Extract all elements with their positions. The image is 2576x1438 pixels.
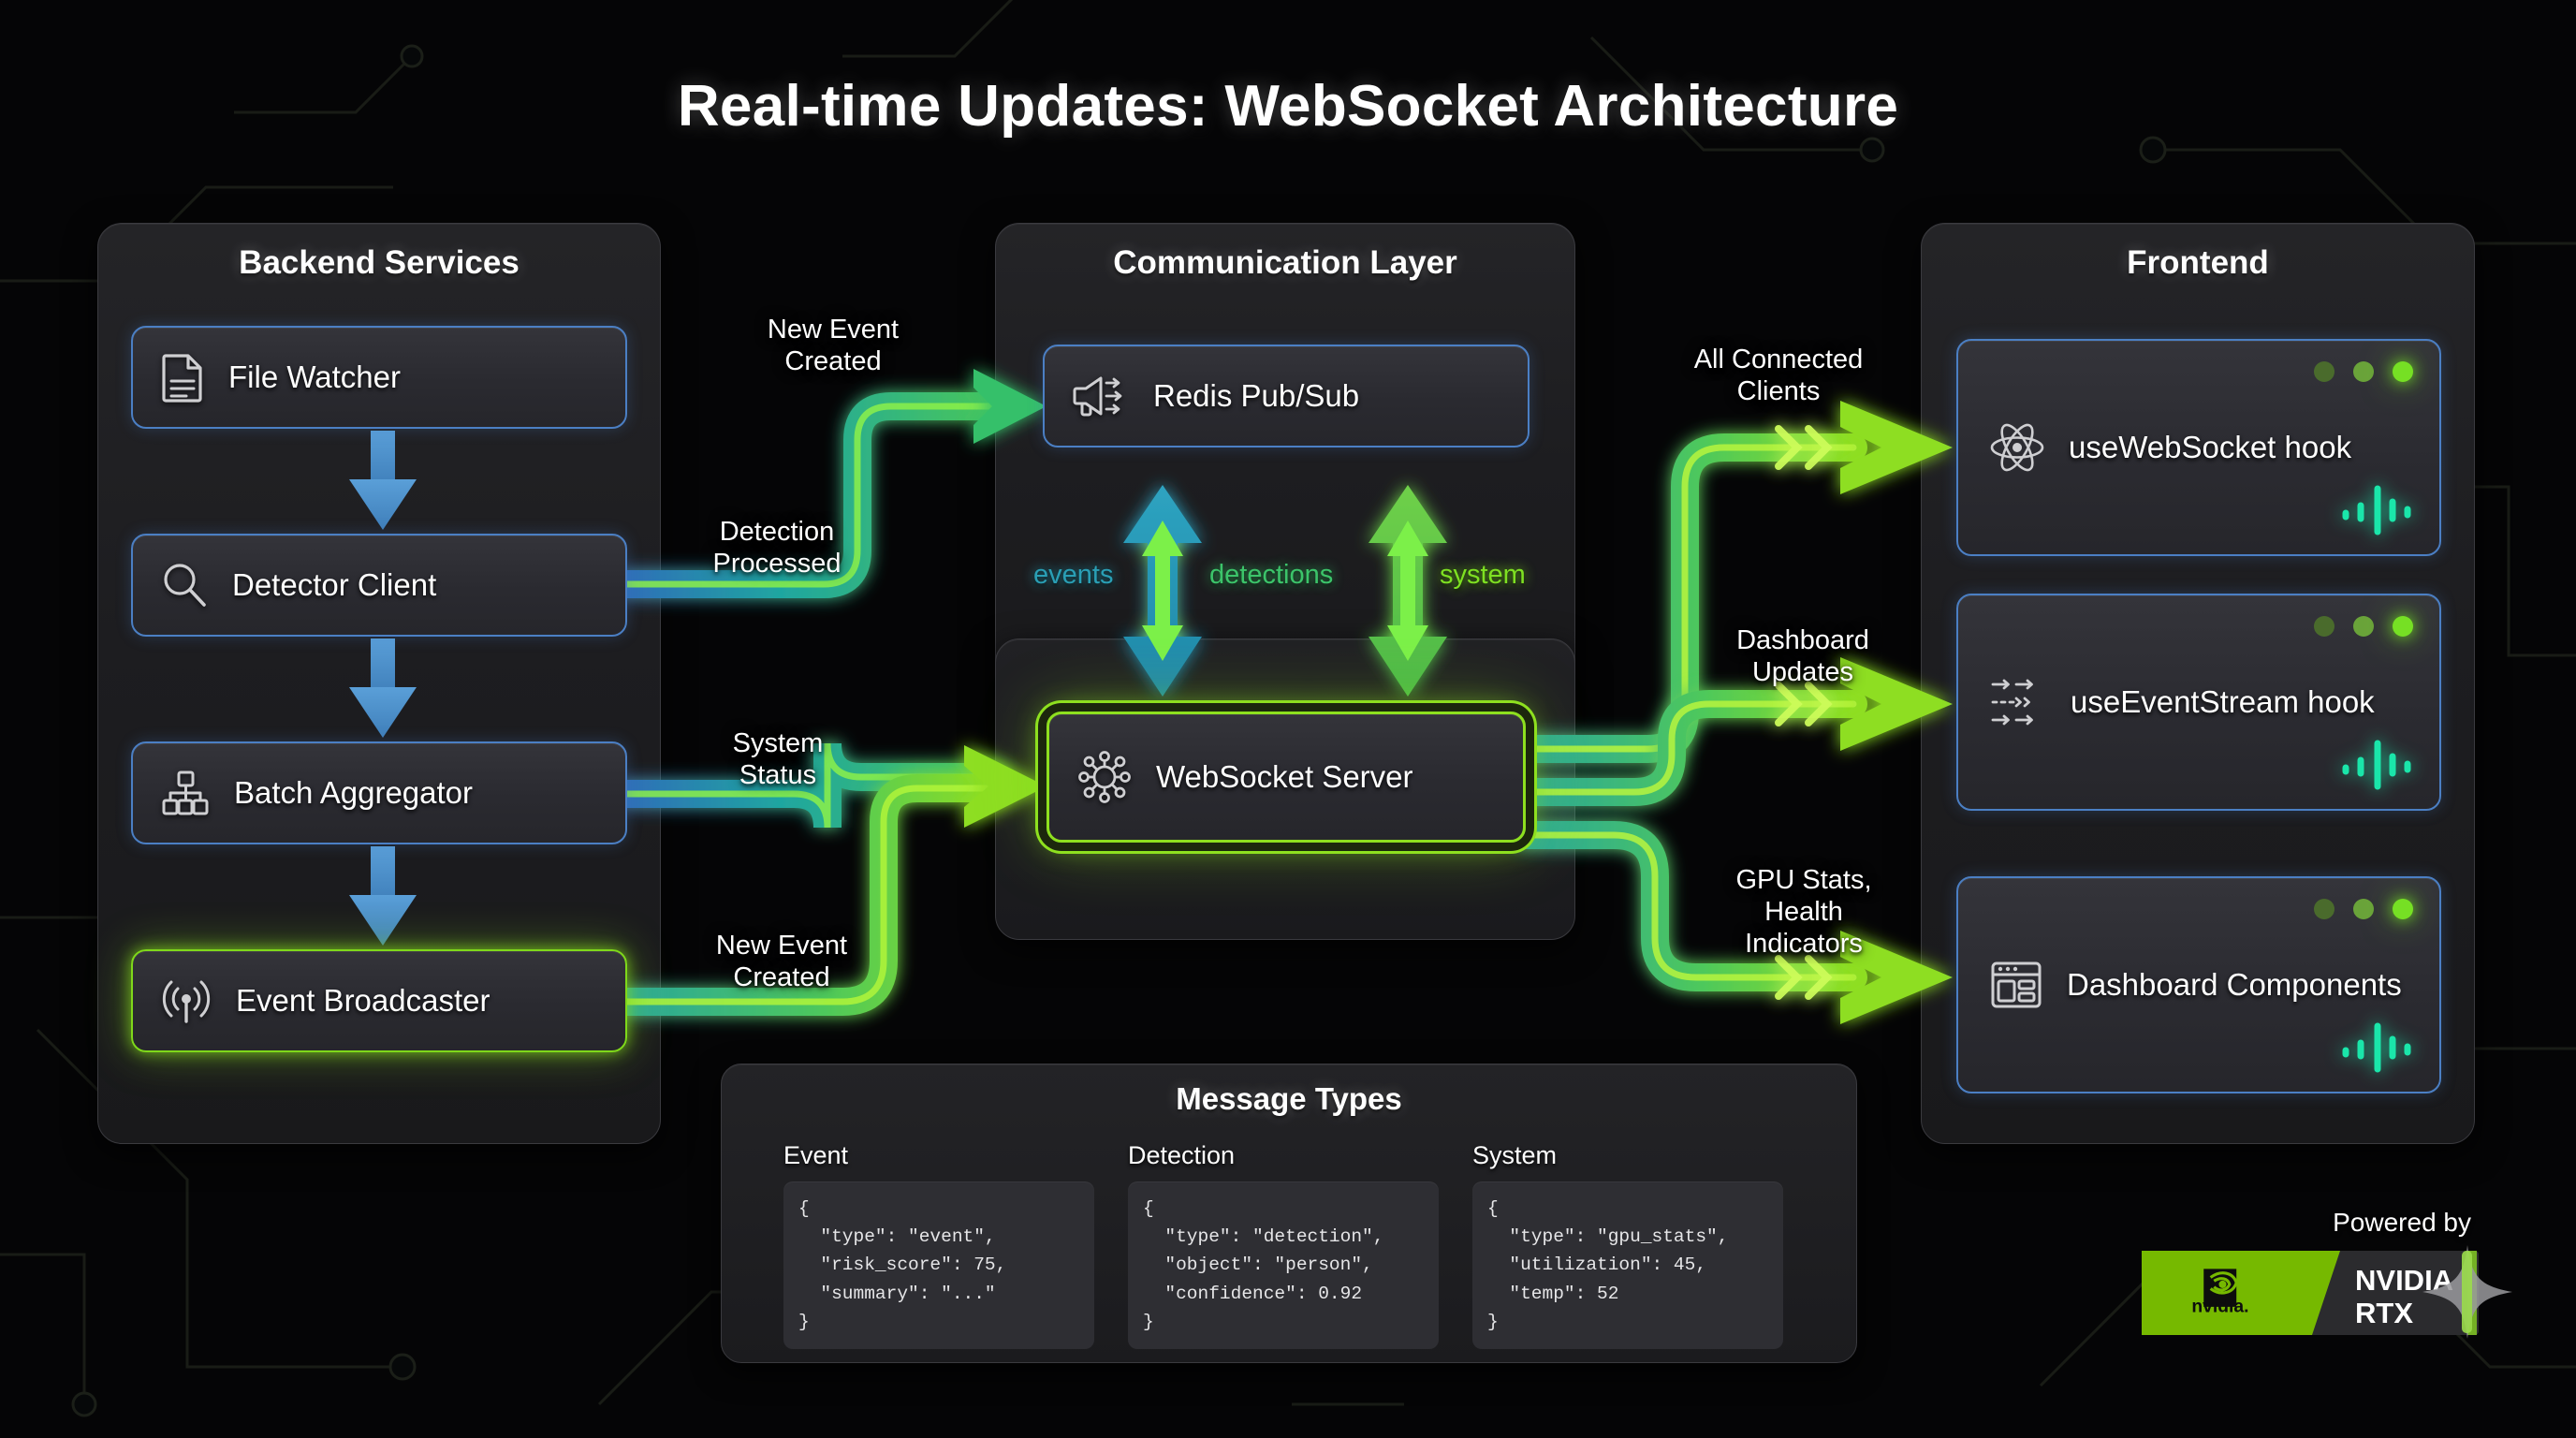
powered-by-label: Powered by bbox=[2333, 1208, 2471, 1238]
nvidia-product-line2: RTX bbox=[2355, 1297, 2413, 1329]
sparkle-icon bbox=[2422, 1245, 2512, 1339]
edge-label-system-status: System Status bbox=[661, 728, 895, 792]
document-icon bbox=[161, 353, 204, 402]
node-websocket-server[interactable]: WebSocket Server bbox=[1046, 712, 1526, 843]
hierarchy-icon bbox=[161, 770, 210, 816]
frontend-card-label: Dashboard Components bbox=[2067, 966, 2402, 1004]
channel-label-events: events bbox=[1033, 560, 1113, 591]
megaphone-icon bbox=[1073, 372, 1129, 420]
edge-label-new-event-created-bottom: New Event Created bbox=[655, 931, 908, 994]
frontend-card-dashboard-components[interactable]: Dashboard Components bbox=[1956, 876, 2441, 1093]
dashboard-icon bbox=[1990, 961, 2042, 1009]
node-event-broadcaster[interactable]: Event Broadcaster bbox=[131, 949, 627, 1052]
frontend-card-usewebsocket-hook[interactable]: useWebSocket hook bbox=[1956, 339, 2441, 556]
message-type-heading: Detection bbox=[1128, 1141, 1439, 1170]
activity-waveform-icon bbox=[2340, 1020, 2415, 1075]
stream-arrows-icon bbox=[1990, 675, 2046, 729]
react-atom-icon bbox=[1990, 422, 2044, 473]
message-type-heading: System bbox=[1472, 1141, 1783, 1170]
status-dot-2 bbox=[2353, 616, 2374, 637]
channel-label-system: system bbox=[1440, 560, 1526, 591]
status-dot-1 bbox=[2314, 616, 2334, 637]
message-type-system: System { "type": "gpu_stats", "utilizati… bbox=[1472, 1141, 1783, 1349]
edge-label-all-connected-clients: All Connected Clients bbox=[1638, 345, 1919, 408]
activity-waveform-icon bbox=[2340, 483, 2415, 537]
panel-title-backend: Backend Services bbox=[98, 244, 660, 282]
activity-waveform-icon bbox=[2340, 738, 2415, 792]
edge-label-gpu-stats-health: GPU Stats, Health Indicators bbox=[1677, 865, 1930, 961]
hub-icon bbox=[1077, 750, 1132, 804]
panel-title-frontend: Frontend bbox=[1922, 244, 2474, 282]
node-batch-aggregator[interactable]: Batch Aggregator bbox=[131, 741, 627, 844]
node-label: File Watcher bbox=[228, 359, 401, 395]
status-dots bbox=[2314, 361, 2413, 382]
frontend-card-label: useWebSocket hook bbox=[2069, 429, 2351, 466]
edge-label-dashboard-updates: Dashboard Updates bbox=[1672, 625, 1934, 689]
status-dot-2 bbox=[2353, 361, 2374, 382]
nvidia-wordmark: nvidia. bbox=[2191, 1297, 2248, 1316]
message-type-event: Event { "type": "event", "risk_score": 7… bbox=[783, 1141, 1094, 1349]
node-label: Redis Pub/Sub bbox=[1153, 378, 1359, 414]
message-type-code: { "type": "detection", "object": "person… bbox=[1128, 1181, 1439, 1349]
message-type-heading: Event bbox=[783, 1141, 1094, 1170]
channel-label-detections: detections bbox=[1209, 560, 1333, 591]
status-dot-1 bbox=[2314, 899, 2334, 919]
broadcast-icon bbox=[161, 976, 212, 1025]
status-dot-3 bbox=[2393, 616, 2413, 637]
edge-label-detection-processed: Detection Processed bbox=[655, 517, 899, 580]
node-label: Batch Aggregator bbox=[234, 775, 473, 811]
status-dot-1 bbox=[2314, 361, 2334, 382]
status-dots bbox=[2314, 899, 2413, 919]
message-type-detection: Detection { "type": "detection", "object… bbox=[1128, 1141, 1439, 1349]
node-file-watcher[interactable]: File Watcher bbox=[131, 326, 627, 429]
frontend-card-label: useEventStream hook bbox=[2071, 683, 2375, 721]
panel-message-types: Message Types Event { "type": "event", "… bbox=[721, 1064, 1857, 1363]
status-dot-3 bbox=[2393, 361, 2413, 382]
status-dot-3 bbox=[2393, 899, 2413, 919]
node-label: WebSocket Server bbox=[1156, 759, 1413, 795]
panel-title-message-types: Message Types bbox=[722, 1081, 1856, 1117]
message-type-code: { "type": "gpu_stats", "utilization": 45… bbox=[1472, 1181, 1783, 1349]
status-dot-2 bbox=[2353, 899, 2374, 919]
message-type-code: { "type": "event", "risk_score": 75, "su… bbox=[783, 1181, 1094, 1349]
edge-label-new-event-created-top: New Event Created bbox=[711, 315, 955, 378]
page-title: Real-time Updates: WebSocket Architectur… bbox=[0, 73, 2576, 139]
panel-title-communication: Communication Layer bbox=[996, 244, 1574, 282]
node-redis-pubsub[interactable]: Redis Pub/Sub bbox=[1043, 345, 1529, 448]
node-detector-client[interactable]: Detector Client bbox=[131, 534, 627, 637]
magnifier-icon bbox=[161, 561, 208, 609]
node-label: Detector Client bbox=[232, 567, 436, 603]
frontend-card-useeventstream-hook[interactable]: useEventStream hook bbox=[1956, 594, 2441, 811]
node-label: Event Broadcaster bbox=[236, 983, 490, 1019]
status-dots bbox=[2314, 616, 2413, 637]
